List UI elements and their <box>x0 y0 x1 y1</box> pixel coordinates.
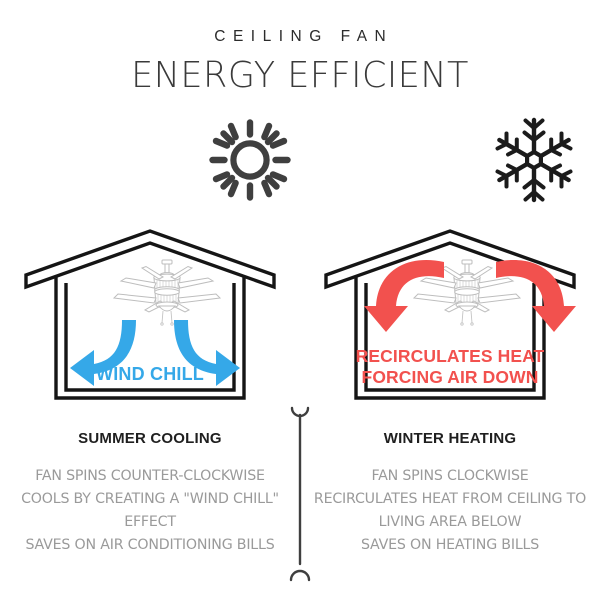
body-line: COOLS BY CREATING A "WIND CHILL" <box>8 488 292 511</box>
page-title: ENERGY EFFICIENT <box>0 58 600 94</box>
kicker-text: CEILING FAN <box>0 29 600 45</box>
summer-cooling-column: SUMMER COOLING FAN SPINS COUNTER-CLOCKWI… <box>8 430 292 557</box>
winter-heating-body: FAN SPINS CLOCKWISE RECIRCULATES HEAT FR… <box>308 465 592 557</box>
body-line: EFFECT <box>8 511 292 534</box>
winter-heating-column: WINTER HEATING FAN SPINS CLOCKWISE RECIR… <box>308 430 592 557</box>
body-line: SAVES ON AIR CONDITIONING BILLS <box>8 534 292 557</box>
caption-line: WIND CHILL <box>30 364 270 385</box>
body-line: FAN SPINS COUNTER-CLOCKWISE <box>8 465 292 488</box>
summer-cooling-body: FAN SPINS COUNTER-CLOCKWISE COOLS BY CRE… <box>8 465 292 557</box>
sun-icon <box>208 118 292 207</box>
caption-line: RECIRCULATES HEAT <box>330 346 570 367</box>
wind-chill-caption: WIND CHILL <box>30 364 270 385</box>
summer-cooling-heading: SUMMER COOLING <box>8 430 292 447</box>
header: CEILING FAN ENERGY EFFICIENT <box>0 0 600 94</box>
airflow-arrows-red <box>358 258 582 341</box>
snowflake-icon <box>488 114 580 211</box>
body-line: RECIRCULATES HEAT FROM CEILING TO <box>308 488 592 511</box>
winter-heating-heading: WINTER HEATING <box>308 430 592 447</box>
body-line: LIVING AREA BELOW <box>308 511 592 534</box>
recirculates-heat-caption: RECIRCULATES HEAT FORCING AIR DOWN <box>330 346 570 387</box>
infographic-canvas: CEILING FAN ENERGY EFFICIENT <box>0 0 600 600</box>
body-line: SAVES ON HEATING BILLS <box>308 534 592 557</box>
weather-icon-row <box>0 118 600 214</box>
caption-line: FORCING AIR DOWN <box>330 367 570 388</box>
body-line: FAN SPINS CLOCKWISE <box>308 465 592 488</box>
